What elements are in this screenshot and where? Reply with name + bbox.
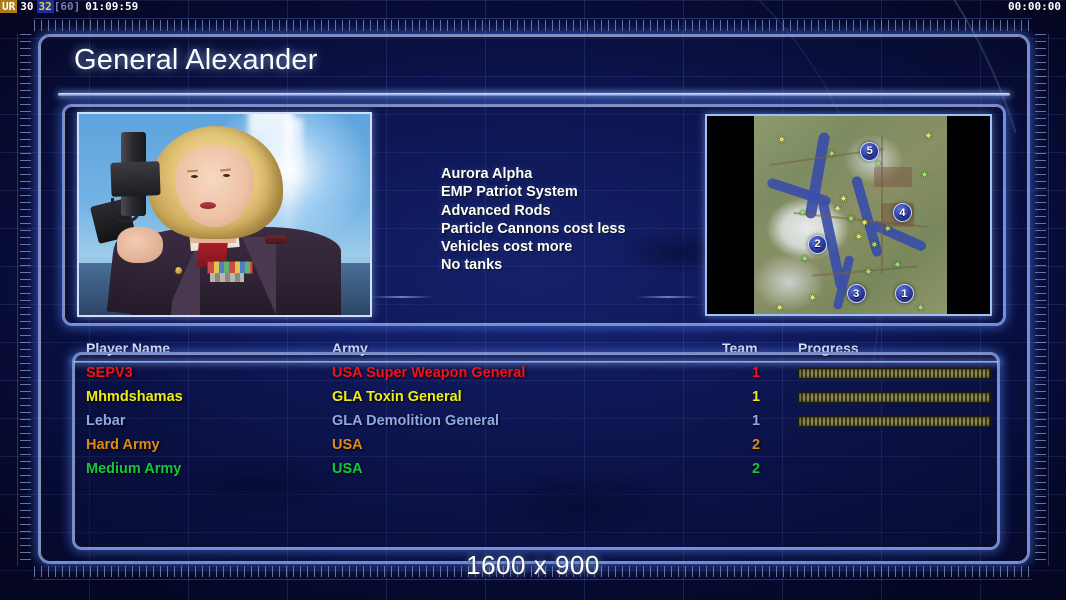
map-field <box>874 167 913 187</box>
hud-tag: UR <box>0 0 17 13</box>
decorative-line <box>636 296 700 298</box>
general-abilities-list: Aurora Alpha EMP Patriot System Advanced… <box>441 165 691 275</box>
frame-hairline <box>34 18 1032 19</box>
player-team: 2 <box>744 437 768 453</box>
player-row: Medium ArmyUSA2 <box>86 461 992 485</box>
portrait-medal-ribbons <box>210 273 244 282</box>
resolution-label: 1600 x 900 <box>0 550 1066 581</box>
hud-timer: 00:00:00 <box>1008 0 1061 13</box>
player-row: Hard ArmyUSA2 <box>86 437 992 461</box>
player-army: USA Super Weapon General <box>332 365 525 381</box>
map-supply-star-icon: ✷ <box>839 195 848 204</box>
map-supply-star-icon: ✷ <box>798 209 807 218</box>
portrait-lapel <box>242 237 276 315</box>
hud-frame-max: [60] <box>54 0 81 13</box>
map-supply-star-icon: ✷ <box>864 268 873 277</box>
map-supply-star-icon: ✷ <box>916 304 925 313</box>
map-start-position-5[interactable]: 5 <box>860 142 879 161</box>
player-name: Medium Army <box>86 461 181 477</box>
pistol-slide-icon <box>110 161 161 197</box>
player-name: Lebar <box>86 413 126 429</box>
ability-item: Vehicles cost more <box>441 238 691 256</box>
map-terrain: 54231 ✷✷✷✷✷✷✷✷✷✷✷✷✷✷✷✷✷✷✷ <box>754 116 947 314</box>
map-supply-star-icon: ✷ <box>808 294 817 303</box>
ability-item: Aurora Alpha <box>441 165 691 183</box>
ability-item: Particle Cannons cost less <box>441 220 691 238</box>
map-start-position-4[interactable]: 4 <box>893 203 912 222</box>
player-team: 2 <box>744 461 768 477</box>
player-team: 1 <box>744 365 768 381</box>
portrait-hand <box>117 227 164 263</box>
debug-hud: UR3032[60]01:09:59 <box>0 0 138 13</box>
hud-clock: 01:09:59 <box>80 0 138 13</box>
map-supply-star-icon: ✷ <box>860 219 869 228</box>
ruler-top <box>34 20 1032 31</box>
ruler-left <box>20 34 31 566</box>
player-army: GLA Toxin General <box>332 389 462 405</box>
player-name: Hard Army <box>86 437 160 453</box>
player-name: Mhmdshamas <box>86 389 183 405</box>
ruler-right <box>1035 34 1046 566</box>
player-army: USA <box>332 437 363 453</box>
map-supply-star-icon: ✷ <box>827 150 836 159</box>
map-supply-star-icon: ✷ <box>893 261 902 270</box>
loading-screen: General Alexander Aurora A <box>0 0 1066 600</box>
map-supply-star-icon: ✷ <box>777 136 786 145</box>
player-progress-bar <box>798 392 991 403</box>
map-preview[interactable]: 54231 ✷✷✷✷✷✷✷✷✷✷✷✷✷✷✷✷✷✷✷ <box>705 114 992 316</box>
map-supply-star-icon: ✷ <box>883 225 892 234</box>
decorative-line <box>370 296 434 298</box>
page-title: General Alexander <box>74 44 318 77</box>
general-portrait <box>77 112 372 317</box>
player-army: GLA Demolition General <box>332 413 499 429</box>
player-name: SEPV3 <box>86 365 133 381</box>
map-supply-star-icon: ✷ <box>870 241 879 250</box>
map-start-position-3[interactable]: 3 <box>847 284 866 303</box>
portrait-epaulet <box>265 235 287 244</box>
frame-hairline <box>17 34 18 566</box>
ability-item: EMP Patriot System <box>441 183 691 201</box>
ability-item: Advanced Rods <box>441 202 691 220</box>
map-supply-star-icon: ✷ <box>800 255 809 264</box>
player-progress-bar <box>798 368 991 379</box>
map-supply-star-icon: ✷ <box>920 171 929 180</box>
portrait-button <box>175 267 182 274</box>
frame-hairline <box>1048 34 1049 566</box>
map-supply-star-icon: ✷ <box>854 233 863 242</box>
map-start-position-1[interactable]: 1 <box>895 284 914 303</box>
player-row: SEPV3USA Super Weapon General1 <box>86 365 992 389</box>
player-team: 1 <box>744 389 768 405</box>
title-bar: General Alexander <box>58 40 1010 96</box>
player-row: MhmdshamasGLA Toxin General1 <box>86 389 992 413</box>
player-row: LebarGLA Demolition General1 <box>86 413 992 437</box>
map-supply-star-icon: ✷ <box>924 132 933 141</box>
hud-fps: 30 <box>17 0 36 13</box>
map-supply-star-icon: ✷ <box>847 215 856 224</box>
map-supply-star-icon: ✷ <box>775 304 784 313</box>
map-supply-star-icon: ✷ <box>833 205 842 214</box>
portrait-medal-ribbons <box>207 261 253 274</box>
ability-item: No tanks <box>441 256 691 274</box>
map-supply-star-icon: ✷ <box>874 160 883 169</box>
map-start-position-2[interactable]: 2 <box>808 235 827 254</box>
player-progress-bar <box>798 416 991 427</box>
player-team: 1 <box>744 413 768 429</box>
title-divider <box>58 93 1010 96</box>
player-army: USA <box>332 461 363 477</box>
portrait-light-beam <box>283 118 303 235</box>
hud-frame: 32 <box>37 0 54 13</box>
